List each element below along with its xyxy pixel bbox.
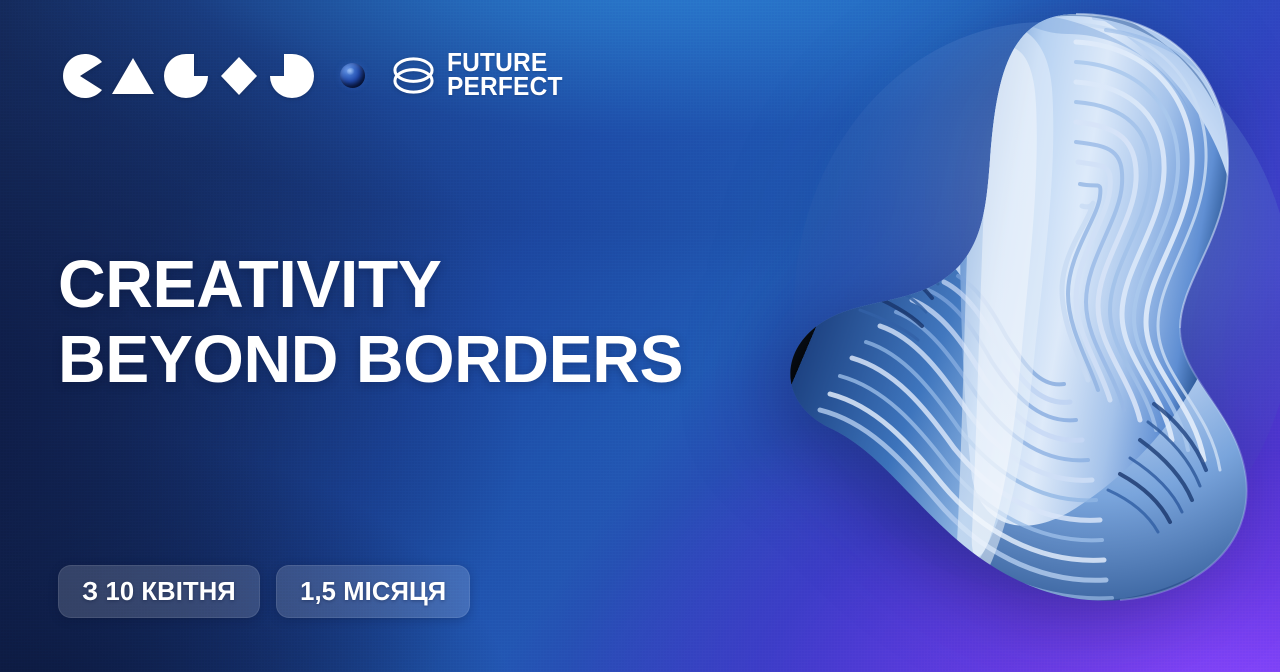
pacman-circle-shape xyxy=(58,54,102,98)
duration-badge-label: 1,5 МІСЯЦЯ xyxy=(300,576,446,607)
page-title: CREATIVITY BEYOND BORDERS xyxy=(58,248,693,397)
abstract-3d-layered-ridges-sculpture xyxy=(776,8,1280,608)
triangle-shape xyxy=(111,54,155,98)
two-overlapping-rings-icon xyxy=(391,53,436,98)
promo-banner: FUTURE PERFECT CREATIVITY BEYOND BORDERS… xyxy=(0,0,1280,672)
gradient-sphere-icon xyxy=(340,63,365,88)
circle-notch-top-right-shape xyxy=(164,54,208,98)
start-date-badge-label: З 10 КВІТНЯ xyxy=(82,576,236,607)
future-perfect-line2: PERFECT xyxy=(447,76,563,100)
circle-notch-top-left-shape xyxy=(270,54,314,98)
future-perfect-wordmark: FUTURE PERFECT xyxy=(447,52,563,99)
headline-line-1: CREATIVITY xyxy=(58,248,683,323)
duration-badge[interactable]: 1,5 МІСЯЦЯ xyxy=(276,565,470,618)
cases-logo[interactable] xyxy=(58,54,314,98)
info-badges: З 10 КВІТНЯ 1,5 МІСЯЦЯ xyxy=(58,565,470,618)
future-perfect-logo[interactable]: FUTURE PERFECT xyxy=(391,52,567,99)
diamond-shape xyxy=(217,54,261,98)
start-date-badge[interactable]: З 10 КВІТНЯ xyxy=(58,565,260,618)
headline-line-2: BEYOND BORDERS xyxy=(58,323,683,398)
header-logo-row: FUTURE PERFECT xyxy=(58,52,567,99)
